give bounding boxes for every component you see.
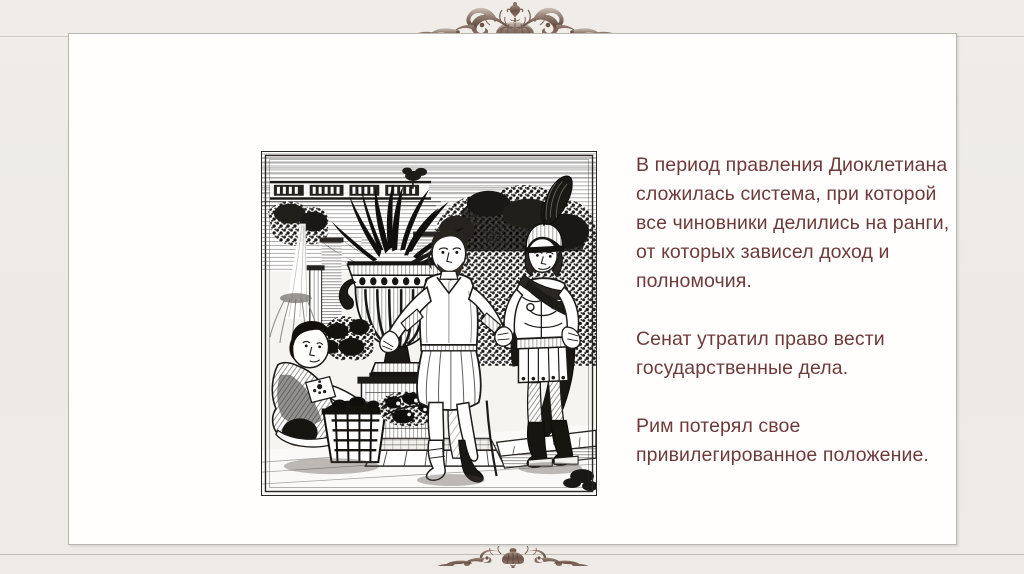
presentation-slide: В период правления Диоклетиана сложилась…	[0, 0, 1024, 574]
paragraph-2: Сенат утратил право вести государственны…	[636, 325, 952, 383]
acanthus-flourish-ornament-bottom-icon	[437, 546, 589, 568]
slide-content-panel: В период правления Диоклетиана сложилась…	[68, 33, 957, 545]
slide-body-text: В период правления Диоклетиана сложилась…	[636, 151, 952, 470]
paragraph-1: В период правления Диоклетиана сложилась…	[636, 151, 952, 296]
paragraph-3: Рим потерял свое привилегированное полож…	[636, 412, 952, 470]
bottom-rule	[0, 554, 1024, 555]
roman-garden-engraving	[261, 151, 597, 496]
